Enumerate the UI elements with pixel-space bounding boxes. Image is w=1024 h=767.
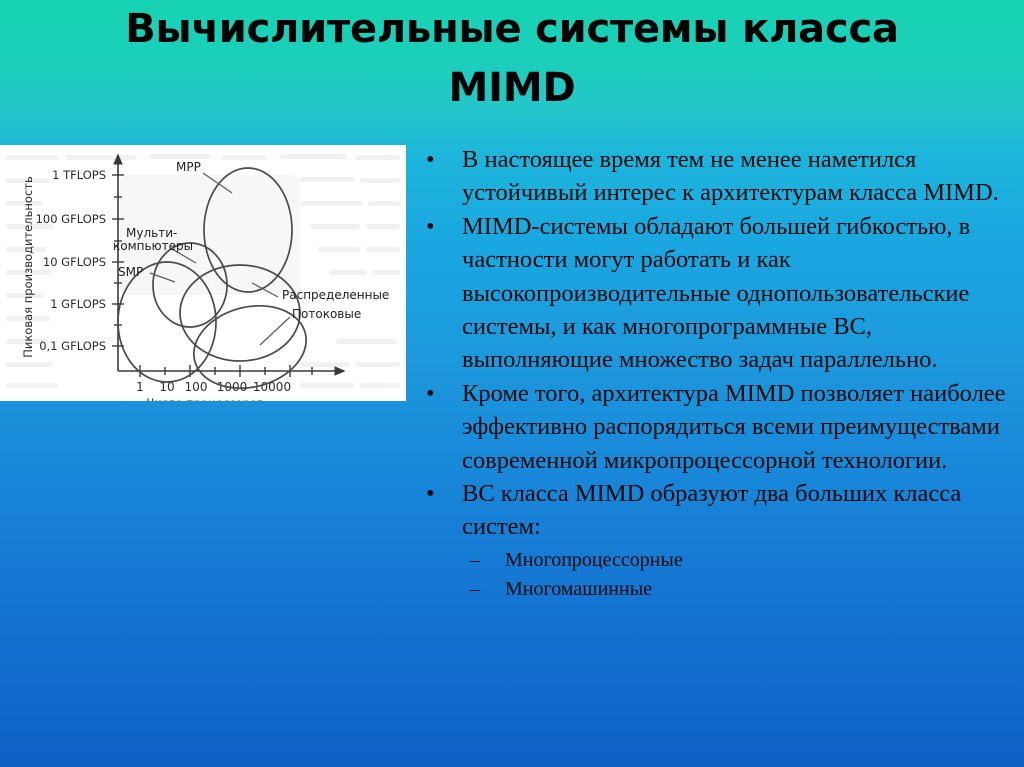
region-label-multicomputers-line2: компьютеры (113, 239, 193, 253)
sub-bullet-text: Многомашинные (505, 578, 652, 600)
slide-canvas: Вычислительные системы класса MIMD (0, 0, 1024, 767)
sub-bullet-marker: – (470, 575, 480, 604)
page-title: Вычислительные системы класса MIMD (0, 0, 1024, 118)
y-axis-title: Пиковая производительность (21, 176, 35, 358)
bullet-marker: • (426, 377, 435, 410)
sub-bullet-text: Многопроцессорные (505, 549, 683, 571)
bullet-marker: • (426, 143, 435, 176)
region-label-mpp: MPP (176, 160, 201, 174)
bullet-list: • В настоящее время тем не менее наметил… (418, 143, 1018, 604)
page-title-line-2: MIMD (0, 59, 1024, 118)
bullet-marker: • (426, 210, 435, 243)
y-tick-label: 1 TFLOPS (52, 168, 106, 182)
y-tick-label: 0,1 GFLOPS (39, 339, 106, 353)
bullet-text: ВС класса MIMD образуют два больших клас… (462, 480, 961, 540)
region-label-smp: SMP (118, 265, 143, 279)
y-tick-label: 1 GFLOPS (50, 297, 106, 311)
sub-bullet-marker: – (470, 546, 480, 575)
y-tick-label: 100 GFLOPS (36, 212, 106, 226)
bullet-text: Кроме того, архитектура MIMD позволяет н… (462, 380, 1006, 474)
performance-vs-processors-diagram: 1 TFLOPS 100 GFLOPS 10 GFLOPS 1 GFLOPS 0… (0, 145, 406, 401)
bullet-text: В настоящее время тем не менее наметился… (462, 146, 999, 206)
region-label-stream: Потоковые (292, 307, 361, 321)
page-title-line-1: Вычислительные системы класса (0, 0, 1024, 59)
sub-bullet-list: – Многопроцессорные – Многомашинные (462, 546, 1018, 604)
region-label-multicomputers-line1: Мульти- (126, 226, 177, 240)
list-item: • Кроме того, архитектура MIMD позволяет… (418, 377, 1018, 477)
y-tick-label: 10 GFLOPS (43, 255, 106, 269)
list-item: • ВС класса MIMD образуют два больших кл… (418, 477, 1018, 604)
list-item: • В настоящее время тем не менее наметил… (418, 143, 1018, 210)
x-axis-title: Число процессоров (146, 396, 263, 401)
slide-body: • В настоящее время тем не менее наметил… (418, 143, 1018, 604)
list-item: • MIMD-системы обладают большей гибкость… (418, 210, 1018, 377)
list-item: – Многомашинные (470, 575, 1018, 604)
bullet-marker: • (426, 477, 435, 510)
x-tick-label: 1 (136, 380, 144, 394)
list-item: – Многопроцессорные (470, 546, 1018, 575)
region-label-distributed: Распределенные (282, 288, 389, 302)
bullet-text: MIMD-системы обладают большей гибкостью,… (462, 213, 970, 374)
x-tick-label: 100 (185, 380, 208, 394)
